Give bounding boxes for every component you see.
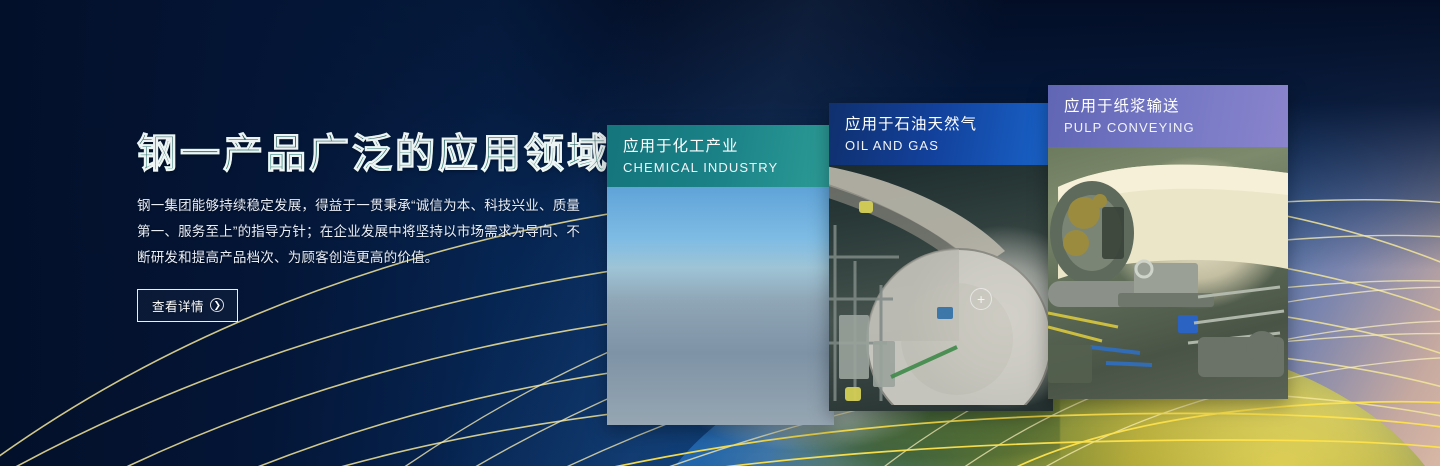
pulp-roller-illustration [1048, 147, 1288, 383]
page-title: 钢一产品广泛的应用领域 [137, 132, 607, 177]
card-title-cn: 应用于化工产业 [623, 137, 834, 158]
card-title-en: PULP CONVEYING [1064, 119, 1288, 137]
view-details-button[interactable]: 查看详情 ❯ [137, 289, 238, 322]
application-card-pulp[interactable]: 应用于纸浆输送 PULP CONVEYING [1048, 85, 1288, 399]
refinery-illustration [829, 165, 1053, 405]
hero-banner: 钢一产品广泛的应用领域 钢一集团能够持续稳定发展，得益于一贯秉承“诚信为本、科技… [0, 0, 1440, 466]
card-title-cn: 应用于纸浆输送 [1064, 97, 1288, 118]
card-photo-oil-gas: + [829, 165, 1053, 411]
card-photo-chemical [607, 187, 834, 425]
application-card-chemical[interactable]: 应用于化工产业 CHEMICAL INDUSTRY [607, 125, 834, 425]
card-header-pulp: 应用于纸浆输送 PULP CONVEYING [1048, 85, 1288, 147]
card-title-cn: 应用于石油天然气 [845, 115, 1053, 136]
card-title-en: OIL AND GAS [845, 137, 1053, 155]
card-header-chemical: 应用于化工产业 CHEMICAL INDUSTRY [607, 125, 834, 187]
card-title-en: CHEMICAL INDUSTRY [623, 159, 834, 177]
view-details-label: 查看详情 [152, 296, 204, 315]
hero-copy: 钢一产品广泛的应用领域 钢一集团能够持续稳定发展，得益于一贯秉承“诚信为本、科技… [137, 132, 607, 322]
application-card-oil-gas[interactable]: 应用于石油天然气 OIL AND GAS [829, 103, 1053, 411]
chevron-right-icon: ❯ [210, 298, 224, 312]
hero-description: 钢一集团能够持续稳定发展，得益于一贯秉承“诚信为本、科技兴业、质量第一、服务至上… [137, 193, 592, 271]
card-photo-pulp [1048, 147, 1288, 399]
card-header-oil-gas: 应用于石油天然气 OIL AND GAS [829, 103, 1053, 165]
